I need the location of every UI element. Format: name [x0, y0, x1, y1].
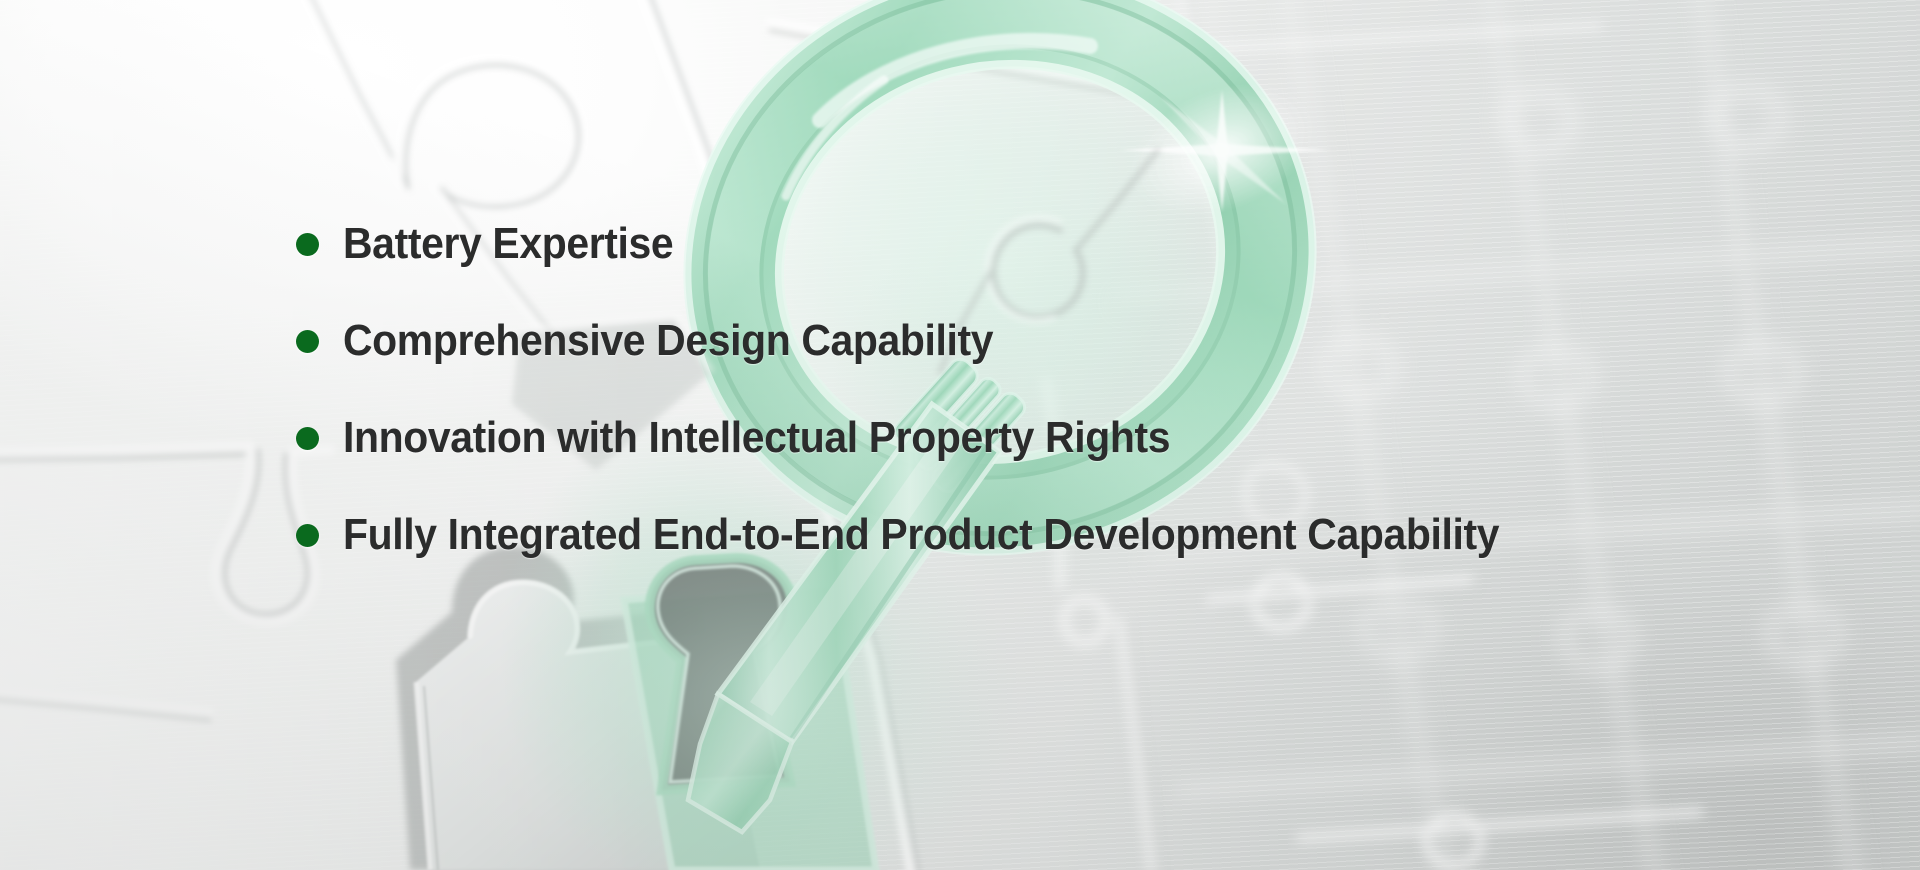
capability-label: Fully Integrated End-to-End Product Deve…	[343, 512, 1499, 558]
bullet-dot-icon	[296, 330, 319, 353]
capability-label: Innovation with Intellectual Property Ri…	[343, 415, 1170, 461]
list-item: Innovation with Intellectual Property Ri…	[296, 390, 1856, 487]
list-item: Fully Integrated End-to-End Product Deve…	[296, 487, 1856, 584]
list-item: Comprehensive Design Capability	[296, 293, 1856, 390]
bullet-dot-icon	[296, 427, 319, 450]
bullet-dot-icon	[296, 524, 319, 547]
capability-label: Battery Expertise	[343, 221, 673, 267]
capability-label: Comprehensive Design Capability	[343, 318, 993, 364]
list-item: Battery Expertise	[296, 196, 1856, 293]
capabilities-banner: Battery Expertise Comprehensive Design C…	[0, 0, 1920, 870]
bullet-dot-icon	[296, 233, 319, 256]
capability-bullet-list: Battery Expertise Comprehensive Design C…	[296, 196, 1856, 584]
